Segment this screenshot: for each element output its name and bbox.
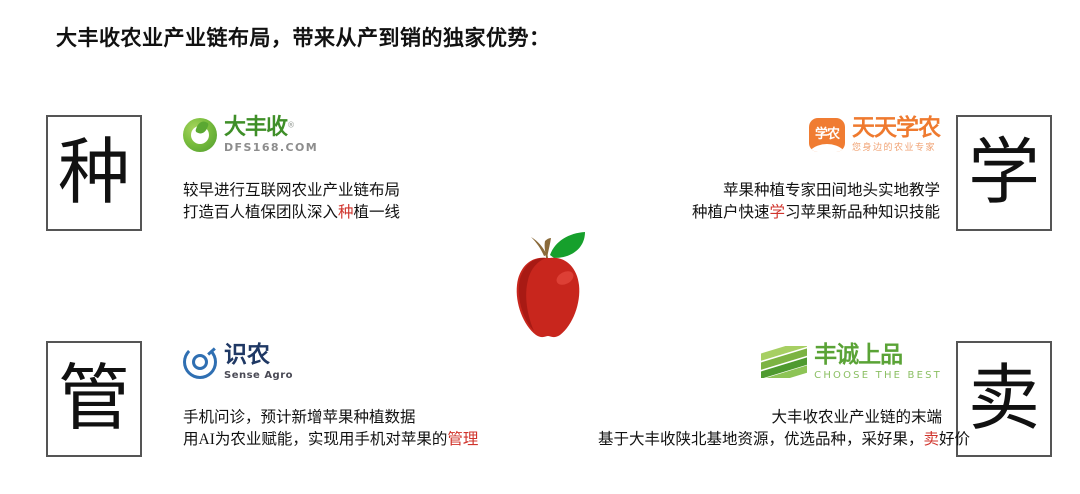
panel-plant: 大丰收® DFS168.COM 较早进行互联网农业产业链布局 打造百人植保团队深… xyxy=(183,112,513,225)
panel-manage-line-1: 手机问诊，预计新增苹果种植数据 xyxy=(183,407,513,429)
logo-shinong: 识农 Sense Agro xyxy=(183,339,513,385)
green-leaf-circle-icon xyxy=(183,118,217,152)
logo-dafengshou: 大丰收® DFS168.COM xyxy=(183,112,513,158)
char-box-mai: 卖 xyxy=(956,341,1052,457)
panel-plant-line-2: 打造百人植保团队深入种植一线 xyxy=(183,202,513,224)
text-segment: 基于大丰收陕北基地资源，优选品种，采好果， xyxy=(598,431,924,448)
highlight-zhong: 种 xyxy=(338,204,354,221)
panel-manage: 识农 Sense Agro 手机问诊，预计新增苹果种植数据 用AI为农业赋能，实… xyxy=(183,339,513,452)
char-box-xue-glyph: 学 xyxy=(968,137,1040,209)
logo-fengchengshangpin-sub: CHOOSE THE BEST xyxy=(814,371,942,381)
logo-tiantianxuenong-slogan: 您身边的农业专家 xyxy=(852,144,940,153)
logo-tiantianxuenong-text: 天天学农 您身边的农业专家 xyxy=(852,117,940,153)
green-field-stripes-icon xyxy=(761,346,807,378)
text-segment: 植一线 xyxy=(354,204,401,221)
char-box-xue: 学 xyxy=(956,115,1052,231)
panel-learn-description: 苹果种植专家田间地头实地教学 种植户快速学习苹果新品种知识技能 xyxy=(610,180,940,225)
text-segment: 习苹果新品种知识技能 xyxy=(785,204,940,221)
char-box-zhong-glyph: 种 xyxy=(58,137,130,209)
logo-tiantianxuenong: 学农 天天学农 您身边的农业专家 xyxy=(610,112,940,158)
panel-sell-line-1: 大丰收农业产业链的末端 xyxy=(598,407,942,429)
text-segment: 手机问诊，预计新增苹果种植数据 xyxy=(183,409,416,426)
char-box-guan: 管 xyxy=(46,341,142,457)
text-segment: 用AI为农业赋能，实现用手机对苹果的 xyxy=(183,431,447,448)
logo-shinong-text: 识农 Sense Agro xyxy=(224,344,293,381)
orange-badge-icon: 学农 xyxy=(809,118,845,152)
text-segment: 较早进行互联网农业产业链布局 xyxy=(183,182,400,199)
text-segment: 苹果种植专家田间地头实地教学 xyxy=(723,182,940,199)
panel-learn-line-2: 种植户快速学习苹果新品种知识技能 xyxy=(610,202,940,224)
panel-sell-description: 大丰收农业产业链的末端 基于大丰收陕北基地资源，优选品种，采好果，卖好价 xyxy=(598,407,942,452)
text-segment: 好价 xyxy=(939,431,970,448)
panel-sell-line-2: 基于大丰收陕北基地资源，优选品种，采好果，卖好价 xyxy=(598,429,942,451)
apple-illustration-icon xyxy=(493,225,603,345)
panel-plant-description: 较早进行互联网农业产业链布局 打造百人植保团队深入种植一线 xyxy=(183,180,513,225)
logo-shinong-name: 识农 xyxy=(224,344,293,367)
page-title: 大丰收农业产业链布局，带来从产到销的独家优势： xyxy=(56,22,551,52)
logo-dafengshou-url: DFS168.COM xyxy=(224,142,318,153)
blue-lens-circle-icon xyxy=(183,345,217,379)
panel-learn-line-1: 苹果种植专家田间地头实地教学 xyxy=(610,180,940,202)
text-segment: 打造百人植保团队深入 xyxy=(183,204,338,221)
logo-fengchengshangpin: 丰诚上品 CHOOSE THE BEST xyxy=(598,339,942,385)
logo-shinong-sub: Sense Agro xyxy=(224,371,293,381)
logo-fengchengshangpin-text: 丰诚上品 CHOOSE THE BEST xyxy=(814,344,942,381)
registered-mark-icon: ® xyxy=(287,121,295,130)
panel-plant-line-1: 较早进行互联网农业产业链布局 xyxy=(183,180,513,202)
char-box-zhong: 种 xyxy=(46,115,142,231)
text-segment: 大丰收农业产业链的末端 xyxy=(771,409,942,426)
char-box-guan-glyph: 管 xyxy=(58,363,130,435)
text-segment: 种植户快速 xyxy=(692,204,770,221)
panel-learn: 学农 天天学农 您身边的农业专家 苹果种植专家田间地头实地教学 种植户快速学习苹… xyxy=(610,112,940,225)
panel-manage-line-2: 用AI为农业赋能，实现用手机对苹果的管理 xyxy=(183,429,513,451)
highlight-guanli: 管理 xyxy=(447,431,478,448)
logo-tiantianxuenong-badge-text: 学农 xyxy=(815,123,839,142)
panel-sell: 丰诚上品 CHOOSE THE BEST 大丰收农业产业链的末端 基于大丰收陕北… xyxy=(598,339,942,452)
logo-dafengshou-text: 大丰收® DFS168.COM xyxy=(224,117,318,153)
highlight-mai: 卖 xyxy=(924,431,940,448)
logo-tiantianxuenong-name: 天天学农 xyxy=(852,117,940,140)
logo-dafengshou-name: 大丰收 xyxy=(224,117,287,139)
highlight-xue: 学 xyxy=(769,204,785,221)
panel-manage-description: 手机问诊，预计新增苹果种植数据 用AI为农业赋能，实现用手机对苹果的管理 xyxy=(183,407,513,452)
logo-fengchengshangpin-name: 丰诚上品 xyxy=(814,344,942,367)
char-box-mai-glyph: 卖 xyxy=(968,363,1040,435)
